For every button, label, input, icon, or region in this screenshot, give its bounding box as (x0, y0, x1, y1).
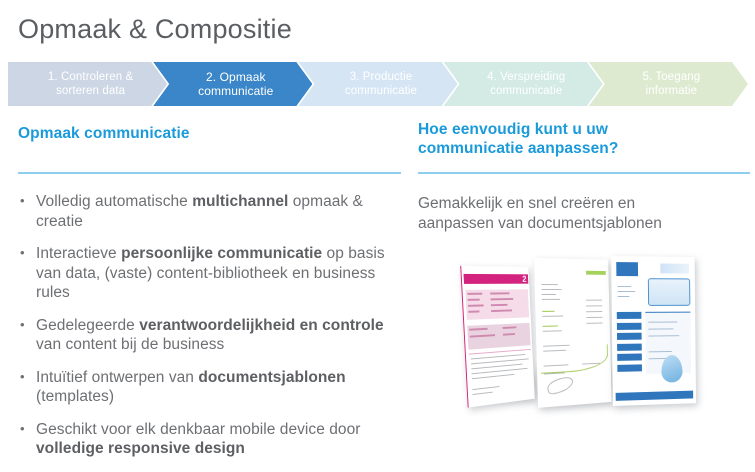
green-body-line (587, 323, 603, 325)
blue-header-tag (660, 264, 689, 274)
green-body-line (542, 289, 562, 290)
blue-body-line (648, 328, 673, 330)
process-step-2[interactable]: 2. Opmaak communicatie (153, 62, 312, 106)
blue-footer-band (616, 391, 694, 401)
pink-header-band (464, 274, 529, 284)
bullet-text: Geschikt voor elk denkbaar mobile device… (36, 421, 360, 438)
bullet-emphasis: documentsjablonen (198, 369, 345, 386)
green-accent-line (542, 311, 554, 313)
feature-bullet-item: Geschikt voor elk denkbaar mobile device… (14, 420, 406, 459)
process-step-label: 1. Controleren & sorteren data (36, 70, 139, 98)
blue-nav-item (617, 312, 642, 319)
process-step-label: 3. Productie communicatie (333, 70, 423, 98)
right-column-body-text: Gemakkelijk en snel creëren en aanpassen… (418, 194, 748, 234)
bullet-text: Gedelegeerde (36, 317, 139, 334)
right-content-panel: Hoe eenvoudig kunt u uw communicatie aan… (408, 112, 755, 459)
blue-nav-item (617, 333, 642, 340)
blue-body-line (618, 296, 630, 297)
green-body-line (542, 294, 556, 295)
blue-body-line (618, 291, 636, 292)
feature-bullet-item: Intuïtief ontwerpen van documentsjablone… (14, 368, 406, 407)
green-body-line (543, 330, 562, 332)
document-template-blue (611, 256, 696, 406)
green-body-line (586, 311, 602, 312)
process-step-3[interactable]: 3. Productie communicatie (298, 62, 457, 106)
green-body-line (541, 284, 557, 285)
process-step-label: 4. Verspreiding communicatie (475, 70, 571, 98)
green-swoosh-graphic (540, 344, 608, 373)
document-template-stack: 2 (454, 252, 754, 452)
blue-body-line (648, 321, 677, 323)
green-body-line (542, 299, 560, 300)
feature-bullet-item: Volledig automatische multichannel opmaa… (14, 192, 406, 231)
process-step-1[interactable]: 1. Controleren & sorteren data (8, 62, 167, 106)
blue-logo-block (616, 262, 638, 276)
left-heading-divider (18, 172, 401, 174)
green-accent-tag (586, 271, 606, 275)
feature-bullet-list: Volledig automatische multichannel opmaa… (14, 192, 406, 472)
feature-bullet-item: Gedelegeerde verantwoordelijkheid en con… (14, 316, 406, 355)
document-template-green (534, 258, 612, 408)
blue-left-nav-column (617, 312, 642, 374)
pink-body-line (473, 392, 493, 396)
bullet-emphasis: multichannel (192, 193, 288, 210)
process-step-bar: 1. Controleren & sorteren data2. Opmaak … (8, 62, 748, 106)
bullet-emphasis: volledige responsive design (36, 440, 245, 457)
blue-droplet-graphic (661, 355, 682, 383)
bullet-emphasis: verantwoordelijkheid en controle (139, 317, 383, 334)
signature-mark (546, 375, 575, 396)
green-body-line (542, 316, 563, 318)
feature-bullet-item: Interactieve persoonlijke communicatie o… (14, 244, 406, 303)
bullet-emphasis: persoonlijke communicatie (121, 245, 322, 262)
left-content-panel: Opmaak communicatie Volledig automatisch… (0, 112, 408, 459)
pink-line (490, 292, 509, 294)
pink-body-line (472, 386, 499, 390)
green-body-line (586, 317, 602, 319)
process-step-label: 5. Toegang informatie (631, 70, 707, 98)
page-title: Opmaak & Compositie (18, 14, 292, 45)
bullet-text: van content bij de business (36, 336, 224, 353)
pink-line (467, 293, 482, 295)
bullet-text: Intuïtief ontwerpen van (36, 369, 198, 386)
process-step-label: 2. Opmaak communicatie (186, 70, 279, 98)
pink-page-badge: 2 (522, 274, 527, 283)
blue-body-line (617, 286, 631, 287)
process-step-4[interactable]: 4. Verspreiding communicatie (444, 62, 603, 106)
blue-highlight-panel (648, 278, 691, 306)
blue-nav-item (617, 322, 642, 329)
pink-body-line (472, 374, 515, 380)
blue-nav-item (617, 353, 642, 360)
blue-nav-item (617, 364, 642, 372)
left-column-heading: Opmaak communicatie (18, 124, 190, 143)
pink-line (468, 299, 480, 301)
bullet-text: Volledig automatische (36, 193, 192, 210)
green-accent-line (543, 325, 558, 327)
document-template-pink: 2 (460, 266, 535, 408)
green-body-line (586, 300, 602, 301)
process-step-5[interactable]: 5. Toegang informatie (589, 62, 748, 106)
bullet-text: Interactieve (36, 245, 121, 262)
right-column-heading: Hoe eenvoudig kunt u uw communicatie aan… (418, 120, 618, 158)
bullet-text: (templates) (36, 388, 114, 405)
blue-nav-item (617, 343, 642, 350)
green-body-line (586, 305, 602, 306)
right-heading-divider (418, 172, 750, 174)
